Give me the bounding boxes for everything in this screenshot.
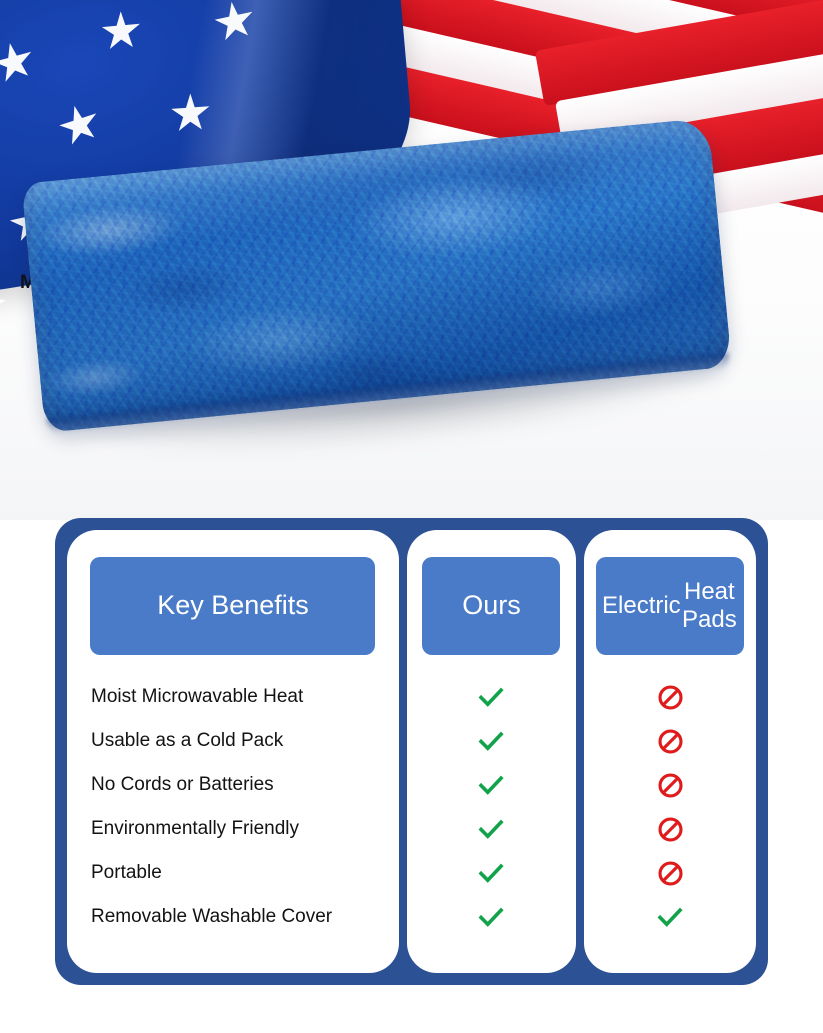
benefit-row: No Cords or Batteries (77, 763, 389, 807)
column-header-key-benefits: Key Benefits (90, 557, 375, 655)
mark-cell-ours (417, 807, 566, 851)
prohibited-icon (657, 728, 684, 755)
benefit-row: Environmentally Friendly (77, 807, 389, 851)
benefit-label-list: Moist Microwavable Heat Usable as a Cold… (77, 675, 389, 939)
heat-pad-product (21, 118, 740, 520)
benefit-row: Portable (77, 851, 389, 895)
column-header-line2: Heat Pads (681, 578, 738, 635)
prohibited-icon (657, 772, 684, 799)
column-header-line1: Electric (602, 592, 681, 620)
benefit-row: Moist Microwavable Heat (77, 675, 389, 719)
product-hero-image: Made in USA (0, 0, 823, 520)
prohibited-icon (657, 684, 684, 711)
check-icon (477, 727, 505, 755)
column-electric-heat-pads: Electric Heat Pads (584, 530, 756, 973)
mark-cell-electric (594, 763, 746, 807)
mark-cell-electric (594, 675, 746, 719)
column-header-electric-heat-pads: Electric Heat Pads (596, 557, 744, 655)
check-icon (477, 903, 505, 931)
mark-cell-electric (594, 719, 746, 763)
mark-cell-electric (594, 895, 746, 939)
mark-cell-ours (417, 675, 566, 719)
mark-cell-ours (417, 763, 566, 807)
comparison-table: Key Benefits Moist Microwavable Heat Usa… (55, 518, 768, 985)
prohibited-icon (657, 860, 684, 887)
column-header-ours: Ours (422, 557, 560, 655)
mark-cell-electric (594, 851, 746, 895)
check-icon (477, 815, 505, 843)
benefit-row: Removable Washable Cover (77, 895, 389, 939)
column-key-benefits: Key Benefits Moist Microwavable Heat Usa… (67, 530, 399, 973)
ours-mark-list (417, 675, 566, 939)
column-ours: Ours (407, 530, 576, 973)
check-icon (656, 903, 684, 931)
mark-cell-ours (417, 851, 566, 895)
benefit-row: Usable as a Cold Pack (77, 719, 389, 763)
prohibited-icon (657, 816, 684, 843)
check-icon (477, 683, 505, 711)
electric-mark-list (594, 675, 746, 939)
check-icon (477, 859, 505, 887)
mark-cell-ours (417, 895, 566, 939)
mark-cell-electric (594, 807, 746, 851)
check-icon (477, 771, 505, 799)
mark-cell-ours (417, 719, 566, 763)
